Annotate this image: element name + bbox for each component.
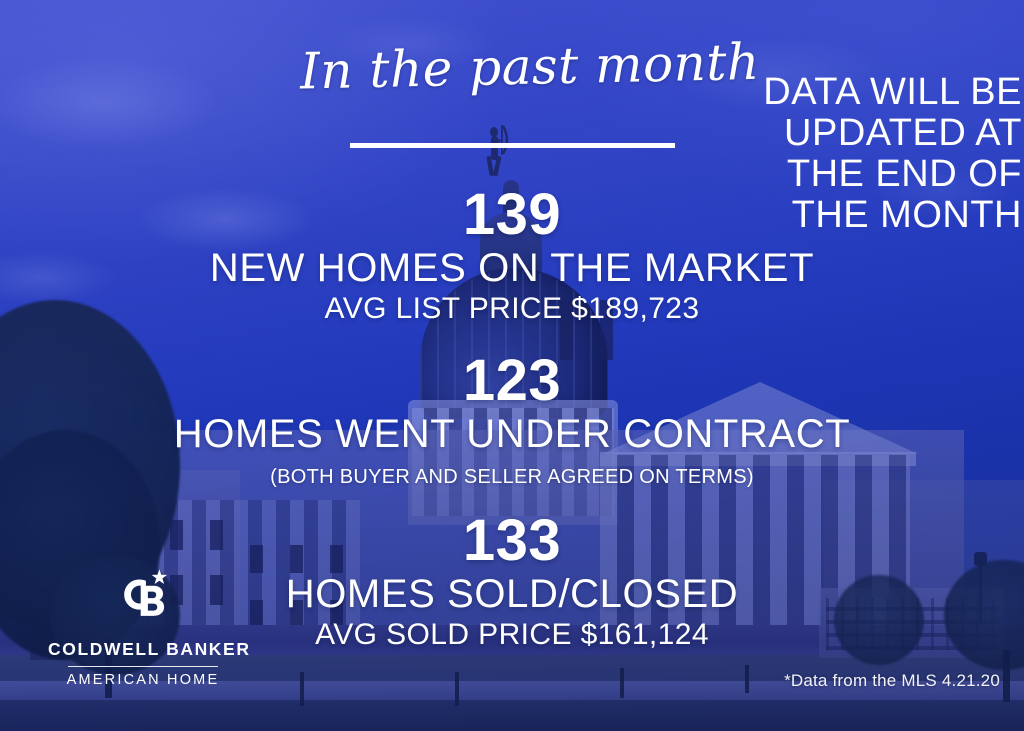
poster: In the past month DATA WILL BE UPDATED A… bbox=[0, 0, 1024, 731]
cb-monogram-icon bbox=[110, 565, 176, 631]
poster-content: In the past month DATA WILL BE UPDATED A… bbox=[0, 0, 1024, 731]
stat-number: 139 bbox=[0, 186, 1024, 244]
stat-sublabel: AVG LIST PRICE $189,723 bbox=[0, 292, 1024, 326]
headline-divider bbox=[350, 143, 675, 148]
stat-number: 133 bbox=[0, 512, 1024, 570]
stat-label: HOMES WENT UNDER CONTRACT bbox=[0, 412, 1024, 457]
stat-label: NEW HOMES ON THE MARKET bbox=[0, 246, 1024, 291]
logo-affiliate-name: AMERICAN HOME bbox=[48, 673, 238, 688]
headline-script: In the past month bbox=[300, 38, 731, 97]
logo-divider bbox=[68, 666, 218, 667]
update-notice-line: DATA WILL BE bbox=[722, 72, 1022, 113]
stat-note: (BOTH BUYER AND SELLER AGREED ON TERMS) bbox=[0, 466, 1024, 488]
stat-block-under-contract: 123 HOMES WENT UNDER CONTRACT (BOTH BUYE… bbox=[0, 352, 1024, 488]
logo-brand-name: COLDWELL BANKER bbox=[48, 641, 238, 659]
stat-block-new-listings: 139 NEW HOMES ON THE MARKET AVG LIST PRI… bbox=[0, 186, 1024, 325]
update-notice-line: UPDATED AT bbox=[722, 113, 1022, 154]
coldwell-banker-logo: COLDWELL BANKER AMERICAN HOME bbox=[48, 565, 238, 687]
stat-number: 123 bbox=[0, 352, 1024, 410]
source-note: *Data from the MLS 4.21.20 bbox=[784, 671, 1000, 691]
